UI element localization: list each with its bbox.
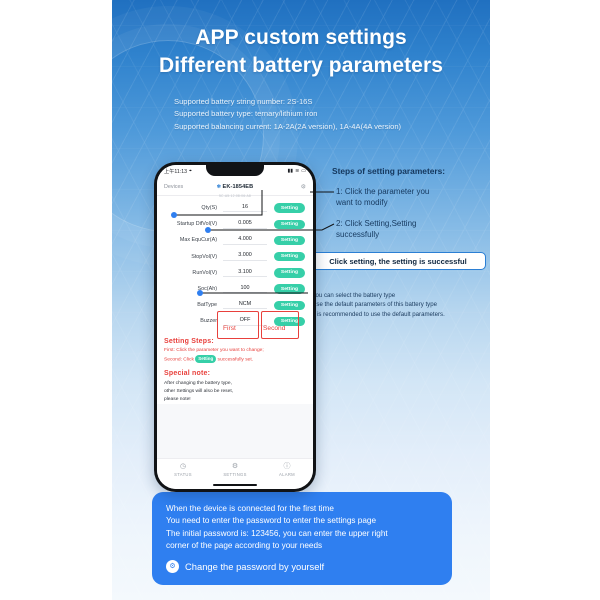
row-value[interactable]: NCM bbox=[223, 301, 267, 310]
row-label: Startup DifVol(V) bbox=[161, 221, 223, 227]
blue-gradient-panel: APP custom settings Different battery pa… bbox=[112, 0, 490, 600]
in-app-instructions: Setting Steps: First: Click the paramete… bbox=[157, 332, 313, 404]
change-password-label: Change the password by yourself bbox=[185, 561, 324, 572]
special-note-line-3: please note! bbox=[164, 396, 306, 404]
poster-page: APP custom settings Different battery pa… bbox=[0, 0, 600, 600]
settings-row-soc[interactable]: Soc(Ah) 100 Setting bbox=[157, 281, 313, 297]
annotation-step-2-line-2: successfully bbox=[336, 229, 476, 240]
title-line-2: Different battery parameters bbox=[112, 52, 490, 80]
annotation-title: Steps of setting parameters: bbox=[332, 166, 445, 176]
settings-row-battype[interactable]: BatType NCM Setting bbox=[157, 297, 313, 313]
special-note-title: Special note: bbox=[164, 370, 306, 377]
annotation-step-1-line-1: 1: Click the parameter you bbox=[336, 186, 476, 197]
bluetooth-icon: ✻ bbox=[217, 184, 221, 190]
order-tag-second: Second bbox=[263, 325, 285, 332]
tab-status[interactable]: ◷ STATUS bbox=[157, 463, 209, 477]
battery-note-line-3: It is recommended to use the default par… bbox=[312, 310, 487, 319]
tab-label: STATUS bbox=[157, 472, 209, 477]
wifi-icon: ≋ bbox=[295, 169, 299, 174]
settings-row-runvol[interactable]: RunVol(V) 3.100 Setting bbox=[157, 265, 313, 281]
clock-icon: ◷ bbox=[157, 463, 209, 470]
page-title: APP custom settings Different battery pa… bbox=[112, 24, 490, 79]
annotation-step-1-line-2: want to modify bbox=[336, 197, 476, 208]
device-name-row: ✻EK-1854EB bbox=[217, 184, 254, 190]
annotation-step-2-line-1: 2: Click Setting,Setting bbox=[336, 218, 476, 229]
special-note-line-2: other Settings will also be reset, bbox=[164, 388, 306, 396]
phone-screen: 上午11:13 ⌖ ▮▮ ≋ ▭ Devices bbox=[157, 165, 313, 489]
settings-row-startup-difvol[interactable]: Startup DifVol(V) 0.005 Setting bbox=[157, 216, 313, 232]
row-value[interactable]: 16 bbox=[223, 204, 267, 213]
settings-row-max-equcur[interactable]: Max EquCur(A) 4.000 Setting bbox=[157, 232, 313, 248]
row-label: Qty(S) bbox=[161, 205, 223, 211]
spec-list: Supported battery string number: 2S-16S … bbox=[174, 96, 484, 133]
battery-type-note: You can select the battery type Use the … bbox=[312, 291, 487, 319]
row-value[interactable]: 4.000 bbox=[223, 236, 267, 245]
spec-string-number: Supported battery string number: 2S-16S bbox=[174, 96, 484, 108]
row-setting-button[interactable]: Setting bbox=[274, 252, 305, 261]
row-value[interactable]: 3.100 bbox=[223, 269, 267, 278]
gear-icon: ⚙ bbox=[209, 463, 261, 470]
spec-battery-type: Supported battery type: ternary/lithium … bbox=[174, 108, 484, 120]
annotation-step-2: 2: Click Setting,Setting successfully bbox=[336, 218, 476, 241]
battery-icon: ▭ bbox=[301, 169, 306, 174]
battery-note-line-1: You can select the battery type bbox=[312, 291, 487, 300]
setting-steps-title: Setting Steps: bbox=[164, 338, 306, 345]
row-label: StopVol(V) bbox=[161, 254, 223, 260]
battery-note-line-2: Use the default parameters of this batte… bbox=[312, 300, 487, 309]
setting-step-first: First: Click the parameter you want to c… bbox=[164, 347, 306, 355]
header-gear-icon[interactable]: ⚙ bbox=[301, 183, 306, 190]
status-time: 上午11:13 bbox=[164, 168, 187, 175]
alert-icon: ⓘ bbox=[261, 463, 313, 470]
bottom-tab-bar: ◷ STATUS ⚙ SETTINGS ⓘ ALARM bbox=[157, 458, 313, 489]
banner-line-1: When the device is connected for the fir… bbox=[166, 503, 438, 515]
back-to-devices-link[interactable]: Devices bbox=[164, 184, 183, 190]
settings-list: Qty(S) 16 Setting Startup DifVol(V) 0.00… bbox=[157, 196, 313, 332]
order-tag-first: First bbox=[223, 325, 236, 332]
row-label: Buzzer bbox=[161, 318, 223, 324]
setting-step-second: Second: Click Setting successfully set. bbox=[164, 355, 306, 364]
home-indicator bbox=[213, 484, 257, 486]
row-setting-button[interactable]: Setting bbox=[274, 203, 305, 212]
phone-mockup: 上午11:13 ⌖ ▮▮ ≋ ▭ Devices bbox=[154, 162, 316, 492]
phone-notch bbox=[206, 165, 264, 176]
step-second-suffix: successfully set. bbox=[218, 357, 254, 362]
device-name: EK-1854EB bbox=[223, 184, 254, 190]
password-info-banner: When the device is connected for the fir… bbox=[152, 492, 452, 585]
row-label: BatType bbox=[161, 302, 223, 308]
row-label: Max EquCur(A) bbox=[161, 237, 223, 243]
gear-icon: ⚙ bbox=[166, 560, 179, 573]
banner-line-4: corner of the page according to your nee… bbox=[166, 540, 438, 552]
row-value[interactable]: 3.000 bbox=[223, 252, 267, 261]
row-setting-button[interactable]: Setting bbox=[274, 301, 305, 310]
step-second-chip: Setting bbox=[195, 355, 216, 363]
change-password-cta[interactable]: ⚙ Change the password by yourself bbox=[166, 560, 438, 573]
success-callout: Click setting, the setting is successful bbox=[310, 252, 486, 270]
banner-line-3: The initial password is: 123456, you can… bbox=[166, 528, 438, 540]
row-label: Soc(Ah) bbox=[161, 286, 223, 292]
spec-balancing-current: Supported balancing current: 1A-2A(2A ve… bbox=[174, 121, 484, 133]
tab-label: ALARM bbox=[261, 472, 313, 477]
annotation-step-1: 1: Click the parameter you want to modif… bbox=[336, 186, 476, 209]
app-header: Devices ✻EK-1854EB 5C:A5:12:08:06:A8 ⚙ bbox=[157, 178, 313, 196]
row-label: RunVol(V) bbox=[161, 270, 223, 276]
signal-icon: ▮▮ bbox=[288, 169, 294, 174]
title-line-1: APP custom settings bbox=[195, 26, 407, 49]
special-note-line-1: After changing the battery type, bbox=[164, 380, 306, 388]
location-icon: ⌖ bbox=[189, 169, 192, 174]
row-value[interactable]: 100 bbox=[223, 285, 267, 294]
row-setting-button[interactable]: Setting bbox=[274, 284, 305, 293]
settings-row-buzzer[interactable]: Buzzer OFF Setting First Second bbox=[157, 313, 313, 329]
banner-line-2: You need to enter the password to enter … bbox=[166, 515, 438, 527]
tab-settings[interactable]: ⚙ SETTINGS bbox=[209, 463, 261, 477]
tab-label: SETTINGS bbox=[209, 472, 261, 477]
tab-alarm[interactable]: ⓘ ALARM bbox=[261, 463, 313, 477]
row-value[interactable]: 0.005 bbox=[223, 220, 267, 229]
row-setting-button[interactable]: Setting bbox=[274, 220, 305, 229]
settings-row-qty[interactable]: Qty(S) 16 Setting bbox=[157, 200, 313, 216]
row-setting-button[interactable]: Setting bbox=[274, 268, 305, 277]
step-second-prefix: Second: Click bbox=[164, 357, 194, 362]
settings-row-stopvol[interactable]: StopVol(V) 3.000 Setting bbox=[157, 249, 313, 265]
row-setting-button[interactable]: Setting bbox=[274, 236, 305, 245]
